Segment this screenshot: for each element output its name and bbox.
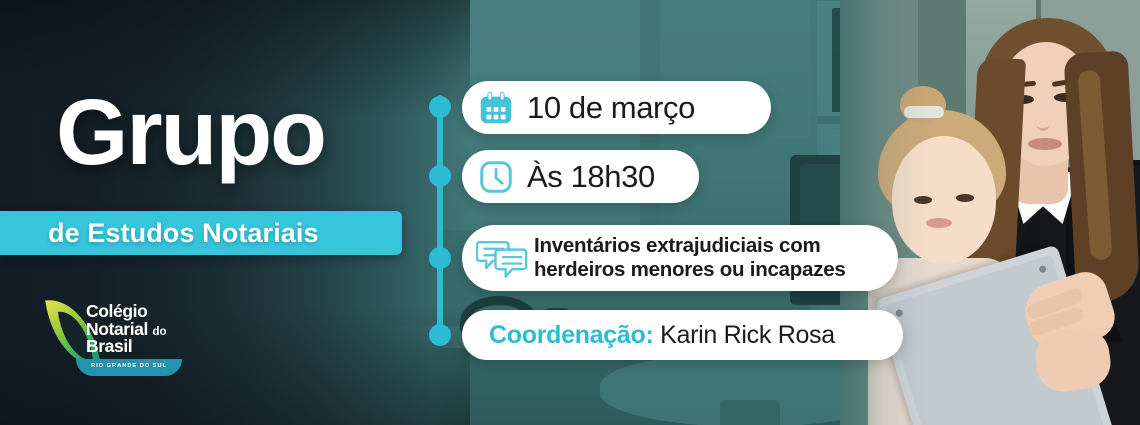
logo-ribbon-text: RIO GRANDE DO SUL [76,359,182,369]
pill-topic: Inventários extrajudiciais com herdeiros… [462,225,898,291]
pill-topic-line-1: Inventários extrajudiciais com [534,234,820,257]
pill-coordination: Coordenação: Karin Rick Rosa [462,310,903,360]
pill-date-text: 10 de março [527,90,695,126]
subtitle-bar: de Estudos Notariais [0,211,402,255]
coordination-label: Coordenação: [489,321,653,349]
logo-line-2-small: do [152,326,166,338]
event-banner: Grupo de Estudos Notariais Colégio Notar… [0,0,1140,425]
logo-ribbon: RIO GRANDE DO SUL [76,359,182,376]
timeline-line [437,95,443,340]
woman-with-child-photo [840,0,1140,425]
coordination-name: Karin Rick Rosa [660,321,835,349]
pill-time: Às 18h30 [462,150,699,203]
timeline-dot-3 [429,247,451,269]
pill-date: 10 de março [462,81,771,134]
speech-bubbles-icon [476,236,534,280]
pill-coordination-text: Coordenação: Karin Rick Rosa [489,321,835,350]
logo-text: Colégio Notarial do Brasil [86,303,167,356]
pill-topic-text: Inventários extrajudiciais com herdeiros… [534,234,846,282]
subtitle-text: de Estudos Notariais [48,218,319,249]
timeline-dot-1 [429,96,451,118]
page-title: Grupo [56,86,325,179]
pill-time-text: Às 18h30 [527,159,655,195]
pill-topic-line-2: herdeiros menores ou incapazes [534,258,846,281]
clock-icon [477,158,515,196]
logo-line-3: Brasil [86,338,167,356]
logo-colegio-notarial[interactable]: Colégio Notarial do Brasil RIO GRANDE DO… [46,295,196,390]
calendar-icon [477,89,515,127]
timeline-dot-4 [429,324,451,346]
timeline-dot-2 [429,165,451,187]
